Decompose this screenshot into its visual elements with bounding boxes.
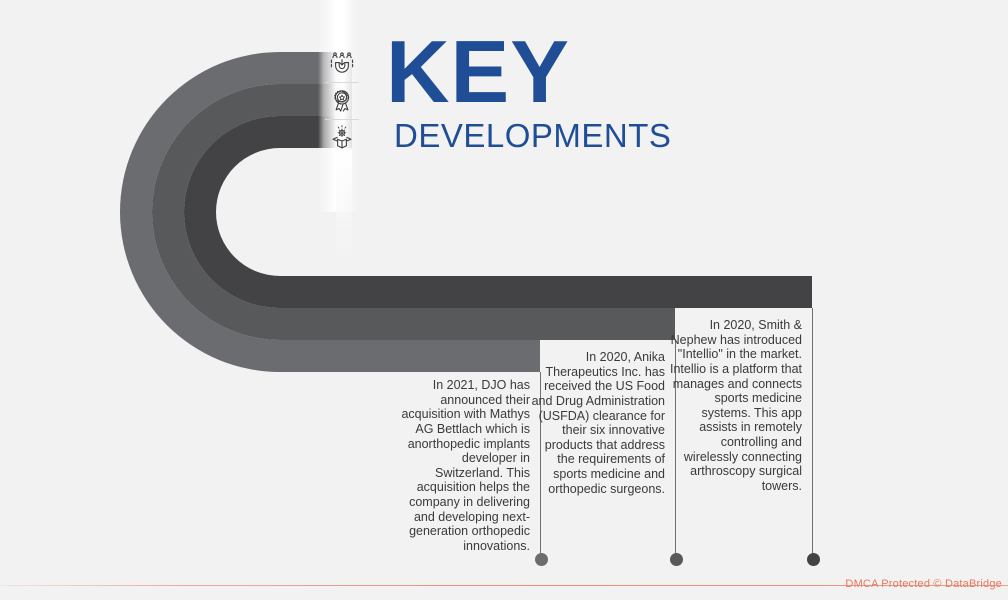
event-dot-anika-usfda xyxy=(670,553,683,566)
event-dot-djo-mathys xyxy=(535,553,548,566)
title-main: KEY xyxy=(386,32,786,113)
icon-rail xyxy=(324,46,360,156)
dmca-watermark: DMCA Protected © DataBridge xyxy=(845,578,1002,590)
event-dot-smith-nephew-intellio xyxy=(807,553,820,566)
open-box-gear-icon xyxy=(324,120,360,156)
event-text-smith-nephew-intellio: In 2020, Smith & Nephew has introduced "… xyxy=(668,318,812,494)
page-title: KEY DEVELOPMENTS xyxy=(386,32,786,152)
event-text-anika-usfda: In 2020, Anika Therapeutics Inc. has rec… xyxy=(531,350,675,496)
event-connector-line-smith-nephew-intellio xyxy=(812,308,813,560)
ribbon-fade-veil-tail xyxy=(336,150,352,258)
event-text-djo-mathys: In 2021, DJO has announced their acquisi… xyxy=(396,378,540,554)
infographic-canvas: KEY DEVELOPMENTS In 2021, DJO has announ… xyxy=(0,0,1008,600)
award-ribbon-icon xyxy=(324,83,360,119)
magnet-attract-people-icon xyxy=(324,46,360,82)
title-subtitle: DEVELOPMENTS xyxy=(394,119,786,152)
